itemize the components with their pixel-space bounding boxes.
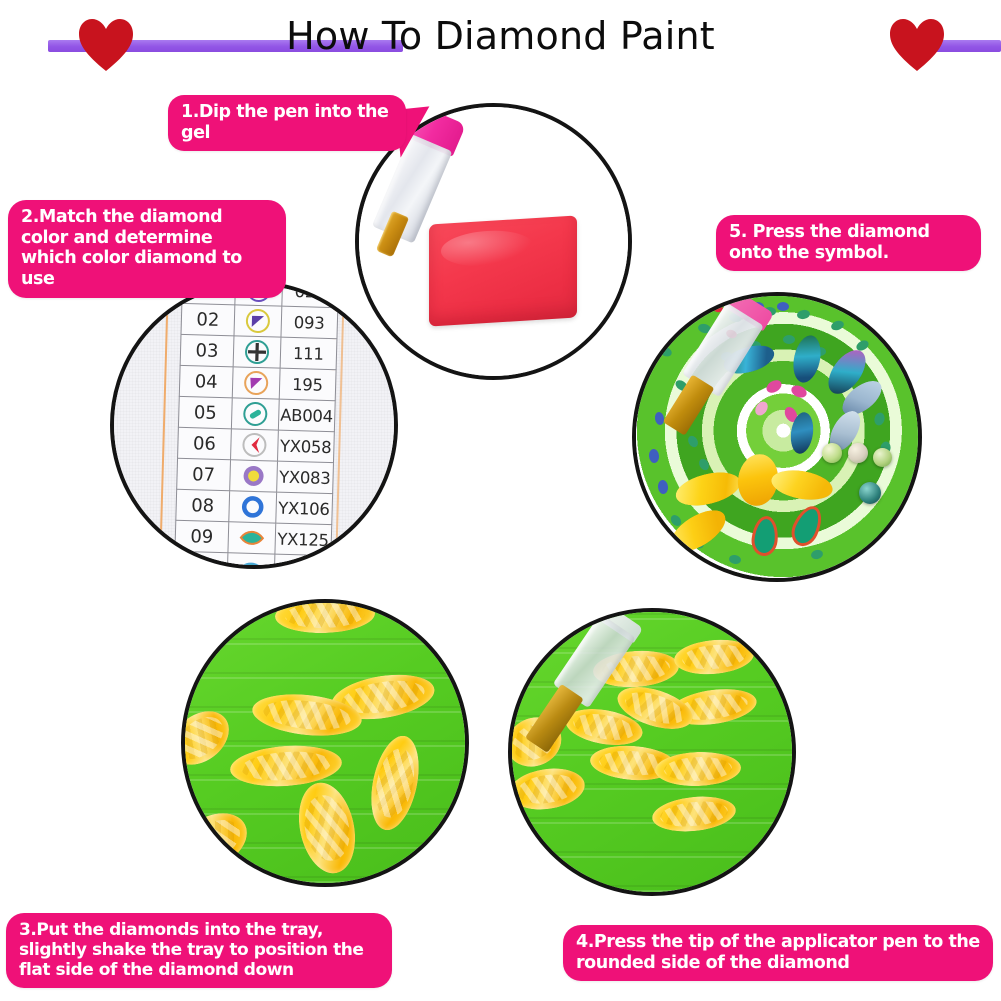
capsule-icon xyxy=(232,398,280,430)
chart-number: 10 xyxy=(174,551,228,569)
chart-code: 026 xyxy=(282,281,339,308)
donut-icon xyxy=(230,460,278,492)
table-row: 03 111 xyxy=(181,334,338,369)
filled-triangle-icon xyxy=(233,367,281,399)
photo-press-onto-canvas xyxy=(632,292,922,582)
chart-number: 03 xyxy=(181,334,235,366)
table-row: 09 YX125 xyxy=(175,520,332,555)
chart-code: 093 xyxy=(281,306,338,339)
chart-number: 06 xyxy=(178,427,232,459)
chart-number: 02 xyxy=(181,303,235,335)
left-arrow-icon xyxy=(231,429,279,461)
plus-cross-icon xyxy=(233,336,281,368)
table-row: 05 AB004 xyxy=(179,396,336,431)
photo-color-chart: 01 026 02 093 xyxy=(110,281,398,569)
table-row: 04 195 xyxy=(180,365,337,400)
photo-pen-picks-gem xyxy=(508,608,796,896)
infographic-page: How To Diamond Paint 1.Dip the pen into … xyxy=(0,0,1001,1001)
chart-code: AB004 xyxy=(278,399,335,432)
chart-code: 111 xyxy=(280,337,337,370)
table-row: 07 YX083 xyxy=(177,458,334,493)
chart-number: 08 xyxy=(176,489,230,521)
photo-gems-in-tray xyxy=(181,599,469,887)
header: How To Diamond Paint xyxy=(0,0,1001,86)
chart-code: 195 xyxy=(279,368,336,401)
leaf-icon xyxy=(227,553,275,569)
chart-code: YX125 xyxy=(275,523,332,556)
chart-code: YX058 xyxy=(278,430,335,463)
table-row: 08 YX106 xyxy=(176,489,333,524)
step-4-label: 4.Press the tip of the applicator pen to… xyxy=(563,925,993,981)
chart-code: YX083 xyxy=(277,461,334,494)
chart-code xyxy=(274,554,331,569)
table-row: 06 YX058 xyxy=(178,427,335,462)
step-2-label: 2.Match the diamond color and determine … xyxy=(8,200,286,298)
step-3-label: 3.Put the diamonds into the tray, slight… xyxy=(6,913,392,988)
chart-number: 09 xyxy=(175,520,229,552)
chart-number: 04 xyxy=(180,365,234,397)
step-1-label: 1.Dip the pen into the gel xyxy=(168,95,406,151)
leaf-icon xyxy=(228,522,276,554)
chart-code: YX106 xyxy=(276,492,333,525)
red-gel-pad xyxy=(429,215,577,326)
color-chart-table: 01 026 02 093 xyxy=(174,281,339,569)
table-row: 02 093 xyxy=(181,303,338,338)
chart-number: 07 xyxy=(177,458,231,490)
ring-icon xyxy=(229,491,277,523)
chart-number: 05 xyxy=(179,396,233,428)
filled-triangle-icon xyxy=(234,305,282,337)
step-5-label: 5. Press the diamond onto the symbol. xyxy=(716,215,981,271)
page-title: How To Diamond Paint xyxy=(0,14,1001,58)
